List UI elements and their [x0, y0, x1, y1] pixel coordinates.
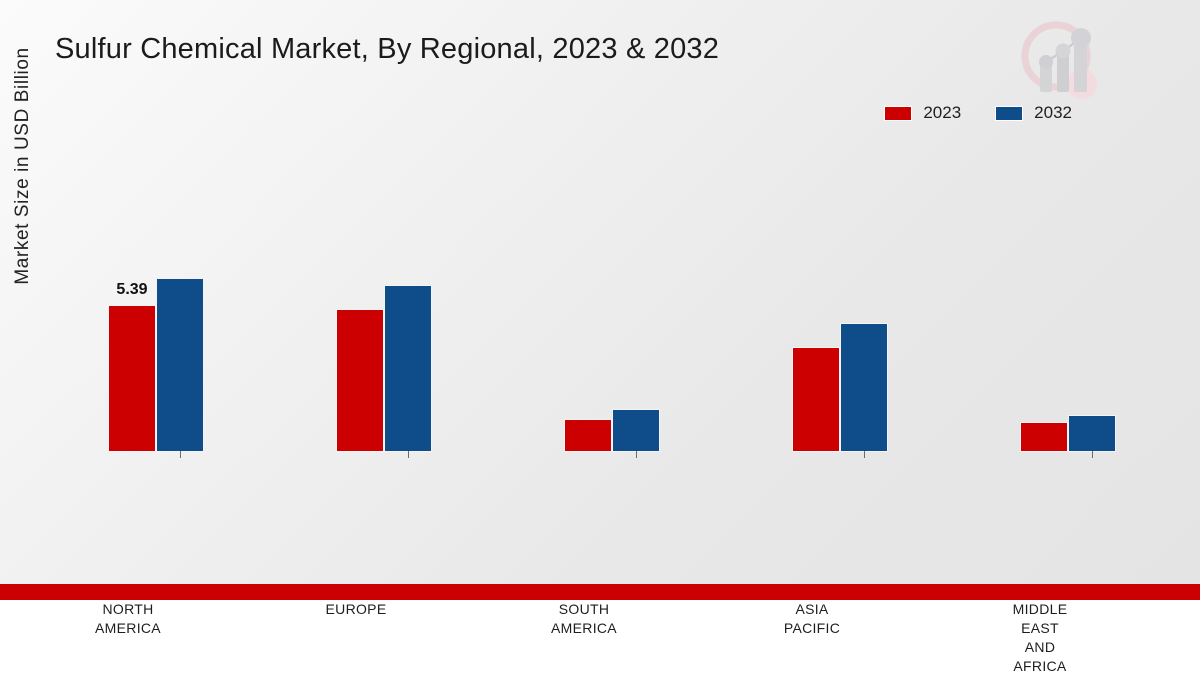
page-title: Sulfur Chemical Market, By Regional, 202… [55, 33, 719, 66]
category-label-line: ASIA [732, 600, 892, 619]
magnifier-bar-chart-logo-icon [1012, 14, 1108, 106]
category-label-line: EAST [960, 619, 1120, 638]
chart-legend: 2023 2032 [884, 103, 1072, 123]
bar-middle-east-and-africa-2032[interactable] [1068, 415, 1116, 452]
category-label-line: MIDDLE [960, 600, 1120, 619]
axis-tick [408, 451, 409, 458]
axis-tick [636, 451, 637, 458]
legend-item-2023[interactable]: 2023 [884, 103, 961, 123]
bar-south-america-2023[interactable] [564, 419, 612, 452]
bar-middle-east-and-africa-2023[interactable] [1020, 422, 1068, 452]
category-label-line: PACIFIC [732, 619, 892, 638]
bar-north-america-2023[interactable]: 5.39 [108, 305, 156, 452]
category-label-line: EUROPE [276, 600, 436, 619]
legend-swatch-2023 [884, 106, 912, 121]
category-label-line: NORTH [48, 600, 208, 619]
category-label-south-america: SOUTH AMERICA [504, 600, 664, 638]
footer-stripe [0, 584, 1200, 600]
chart-page: Sulfur Chemical Market, By Regional, 202… [0, 0, 1200, 600]
bar-south-america-2032[interactable] [612, 409, 660, 452]
axis-tick [1092, 451, 1093, 458]
category-label-line: SOUTH [504, 600, 664, 619]
bar-europe-2023[interactable] [336, 309, 384, 452]
axis-tick [864, 451, 865, 458]
legend-swatch-2032 [995, 106, 1023, 121]
category-label-middle-east-and-africa: MIDDLE EAST AND AFRICA [960, 600, 1120, 676]
bar-europe-2032[interactable] [384, 285, 432, 452]
category-label-line: AFRICA [960, 657, 1120, 676]
axis-tick [180, 451, 181, 458]
category-label-north-america: NORTH AMERICA [48, 600, 208, 638]
plot-area: 5.39 NORTH AMERICA EUROPE [50, 140, 1190, 452]
bar-asia-pacific-2032[interactable] [840, 323, 888, 452]
legend-label-2032: 2032 [1034, 103, 1072, 123]
bar-asia-pacific-2023[interactable] [792, 347, 840, 452]
legend-item-2032[interactable]: 2032 [995, 103, 1072, 123]
category-label-europe: EUROPE [276, 600, 436, 619]
y-axis-title: Market Size in USD Billion [12, 1, 34, 331]
bar-north-america-2032[interactable] [156, 278, 204, 452]
category-label-line: AMERICA [48, 619, 208, 638]
category-label-line: AMERICA [504, 619, 664, 638]
category-label-asia-pacific: ASIA PACIFIC [732, 600, 892, 638]
legend-label-2023: 2023 [923, 103, 961, 123]
bar-value-label-north-america-2023: 5.39 [116, 281, 147, 299]
category-label-line: AND [960, 638, 1120, 657]
